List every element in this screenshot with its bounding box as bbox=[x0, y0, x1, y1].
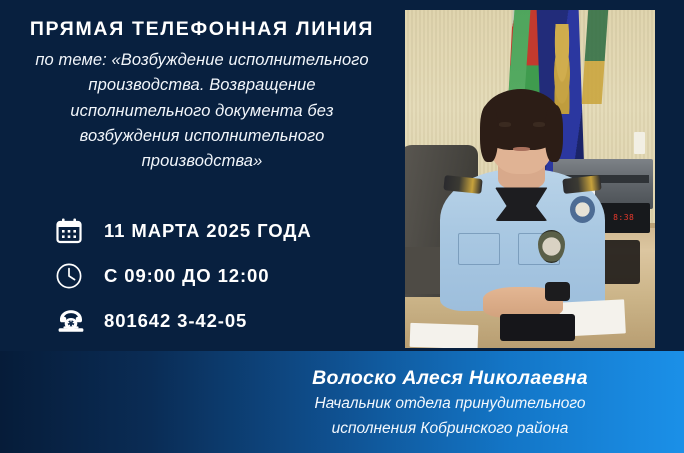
photo-scene: 8:38 bbox=[405, 10, 655, 348]
time-text: С 09:00 ДО 12:00 bbox=[95, 265, 269, 287]
speaker-info: Волоско Алеся Николаевна Начальник отдел… bbox=[250, 365, 650, 440]
wristwatch bbox=[545, 282, 570, 301]
clock-icon bbox=[55, 259, 95, 293]
detail-row-time: С 09:00 ДО 12:00 bbox=[55, 253, 385, 298]
person-hair-left bbox=[480, 105, 498, 162]
uniform-sleeve-patch bbox=[570, 196, 595, 223]
person-eye-left bbox=[499, 122, 512, 127]
detail-row-phone: 801642 3-42-05 bbox=[55, 298, 385, 343]
footer-band: Волоско Алеся Николаевна Начальник отдел… bbox=[0, 351, 684, 453]
desk-clock: 8:38 bbox=[598, 203, 651, 233]
speaker-name: Волоско Алеся Николаевна bbox=[250, 365, 650, 391]
desk-clock-display: 8:38 bbox=[613, 214, 634, 222]
person-eye-right bbox=[533, 122, 546, 127]
subject-text: по теме: «Возбуждение исполнительного пр… bbox=[18, 48, 386, 173]
telephone-icon bbox=[55, 304, 95, 338]
person-hair-right bbox=[545, 105, 563, 162]
person-mouth bbox=[513, 147, 531, 151]
desk-paper-left bbox=[410, 323, 478, 348]
desk-mobile-phone bbox=[500, 314, 575, 341]
calendar-icon bbox=[55, 214, 95, 248]
details-list: 11 МАРТА 2025 ГОДА С 09:00 ДО 12:00 bbox=[55, 208, 385, 343]
phone-number-text: 801642 3-42-05 bbox=[95, 310, 247, 332]
detail-row-date: 11 МАРТА 2025 ГОДА bbox=[55, 208, 385, 253]
page-title: ПРЯМАЯ ТЕЛЕФОННАЯ ЛИНИЯ bbox=[18, 17, 386, 41]
date-text: 11 МАРТА 2025 ГОДА bbox=[95, 220, 312, 242]
uniform-pocket-left bbox=[458, 233, 500, 265]
speaker-photo: 8:38 bbox=[405, 10, 655, 348]
speaker-position-line-2: исполнения Кобринского района bbox=[250, 418, 650, 440]
poster-root: ПРЯМАЯ ТЕЛЕФОННАЯ ЛИНИЯ по теме: «Возбуж… bbox=[0, 0, 684, 453]
speaker-position-line-1: Начальник отдела принудительного bbox=[250, 393, 650, 415]
wall-socket bbox=[634, 132, 645, 154]
